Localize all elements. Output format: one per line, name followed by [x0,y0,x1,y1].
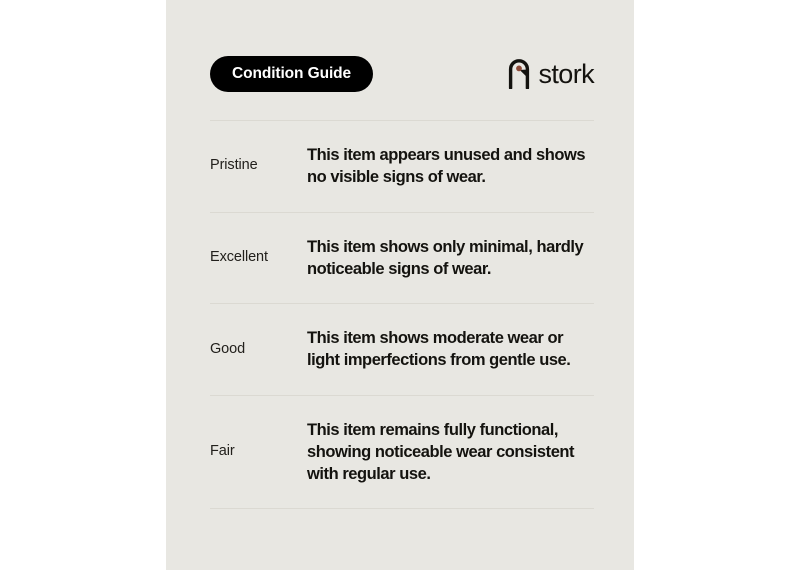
table-row: Fair This item remains fully functional,… [210,395,594,510]
card-header: Condition Guide stork [210,56,594,92]
condition-description: This item shows only minimal, hardly not… [307,236,594,281]
condition-label: Pristine [210,156,307,176]
condition-description: This item shows moderate wear or light i… [307,327,594,372]
brand-wordmark: stork [538,61,594,88]
condition-label: Fair [210,442,307,462]
condition-guide-card: Condition Guide stork Pristine This item… [166,0,634,570]
condition-label: Excellent [210,248,307,268]
stork-arch-logo-icon [507,57,531,89]
condition-description: This item remains fully functional, show… [307,419,594,486]
table-row: Good This item shows moderate wear or li… [210,303,594,395]
condition-guide-table: Pristine This item appears unused and sh… [210,120,594,509]
condition-description: This item appears unused and shows no vi… [307,144,594,189]
condition-label: Good [210,340,307,360]
page-root: Condition Guide stork Pristine This item… [0,0,800,570]
brand-lockup: stork [507,57,594,89]
table-row: Pristine This item appears unused and sh… [210,120,594,212]
table-row: Excellent This item shows only minimal, … [210,212,594,304]
condition-guide-badge: Condition Guide [210,56,373,92]
